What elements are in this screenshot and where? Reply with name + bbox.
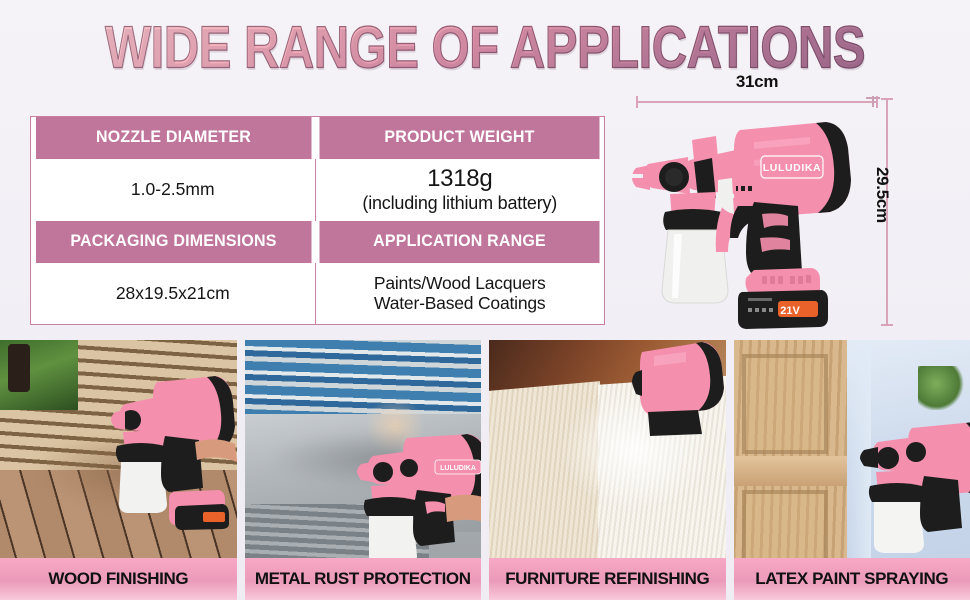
battery-text-strip [748,298,772,301]
table-row: 1.0-2.5mm 1318g (including lithium batte… [31,159,605,221]
application-card-latex-paint-spraying[interactable]: LATEX PAINT SPRAYING [734,340,970,600]
caption-furniture-refinishing: FURNITURE REFINISHING [489,558,726,600]
garden-background [0,340,78,410]
caption-wood-finishing: WOOD FINISHING [0,558,237,600]
trigger [718,178,734,214]
brand-text: LULUDIKA [763,162,821,174]
svg-text:LULUDIKA: LULUDIKA [440,465,476,472]
spray-gun-illustration: LULUDIKA [630,102,885,332]
application-card-furniture-refinishing[interactable]: FURNITURE REFINISHING [489,340,726,600]
title-block: WIDE RANGE OF APPLICATIONS [0,14,970,70]
product-weight-note: (including lithium battery) [316,193,605,214]
value-product-weight: 1318g (including lithium battery) [315,159,605,221]
mini-spray-gun: LULUDIKA [339,428,481,578]
value-application-range: Paints/Wood Lacquers Water-Based Coating… [315,263,605,325]
air-cap-knob-inner [665,168,683,186]
dimension-width-label: 31cm [636,72,878,92]
caption-latex-paint-spraying: LATEX PAINT SPRAYING [734,558,970,600]
door-rail [734,456,857,486]
specification-table: NOZZLE DIAMETER PRODUCT WEIGHT 1.0-2.5mm… [30,116,605,325]
application-line-1: Paints/Wood Lacquers [316,273,605,294]
table-header-row: NOZZLE DIAMETER PRODUCT WEIGHT [31,117,605,159]
header-product-weight: PRODUCT WEIGHT [319,117,600,159]
nozzle-slot [631,174,643,178]
application-card-metal-rust-protection[interactable]: LULUDIKA METAL RUST PROTECTION [245,340,482,600]
mini-spray-gun [854,412,970,557]
header-application-range: APPLICATION RANGE [319,221,600,263]
mini-spray-gun [95,370,237,530]
gun-vents [734,186,752,191]
caption-metal-rust-protection: METAL RUST PROTECTION [245,558,482,600]
application-card-wood-finishing[interactable]: WOOD FINISHING [0,340,237,600]
application-photo-strip: WOOD FINISHING LULUDIKA [0,340,970,600]
product-dimension-diagram: 31cm 29.5cm LULUDIKA [620,72,970,340]
application-line-2: Water-Based Coatings [316,293,605,314]
table-row: 28x19.5x21cm Paints/Wood Lacquers Water-… [31,263,605,325]
product-weight-primary: 1318g [316,165,605,193]
dimension-corner-tick [866,97,880,99]
background-plant [918,366,964,410]
value-packaging-dimensions: 28x19.5x21cm [31,263,316,325]
table-header-row: PACKAGING DIMENSIONS APPLICATION RANGE [31,221,605,263]
header-packaging-dimensions: PACKAGING DIMENSIONS [35,221,311,263]
gun-top-fin [692,136,718,160]
header-nozzle-diameter: NOZZLE DIAMETER [35,117,311,159]
infographic-page: WIDE RANGE OF APPLICATIONS NOZZLE DIAMET… [0,0,970,600]
door-panel [742,354,828,454]
cup-collar [663,209,724,230]
battery-voltage-text: 21V [780,305,800,317]
value-nozzle-diameter: 1.0-2.5mm [31,159,316,221]
mini-spray-gun [612,340,726,436]
metal-sheet-rack [245,340,482,418]
